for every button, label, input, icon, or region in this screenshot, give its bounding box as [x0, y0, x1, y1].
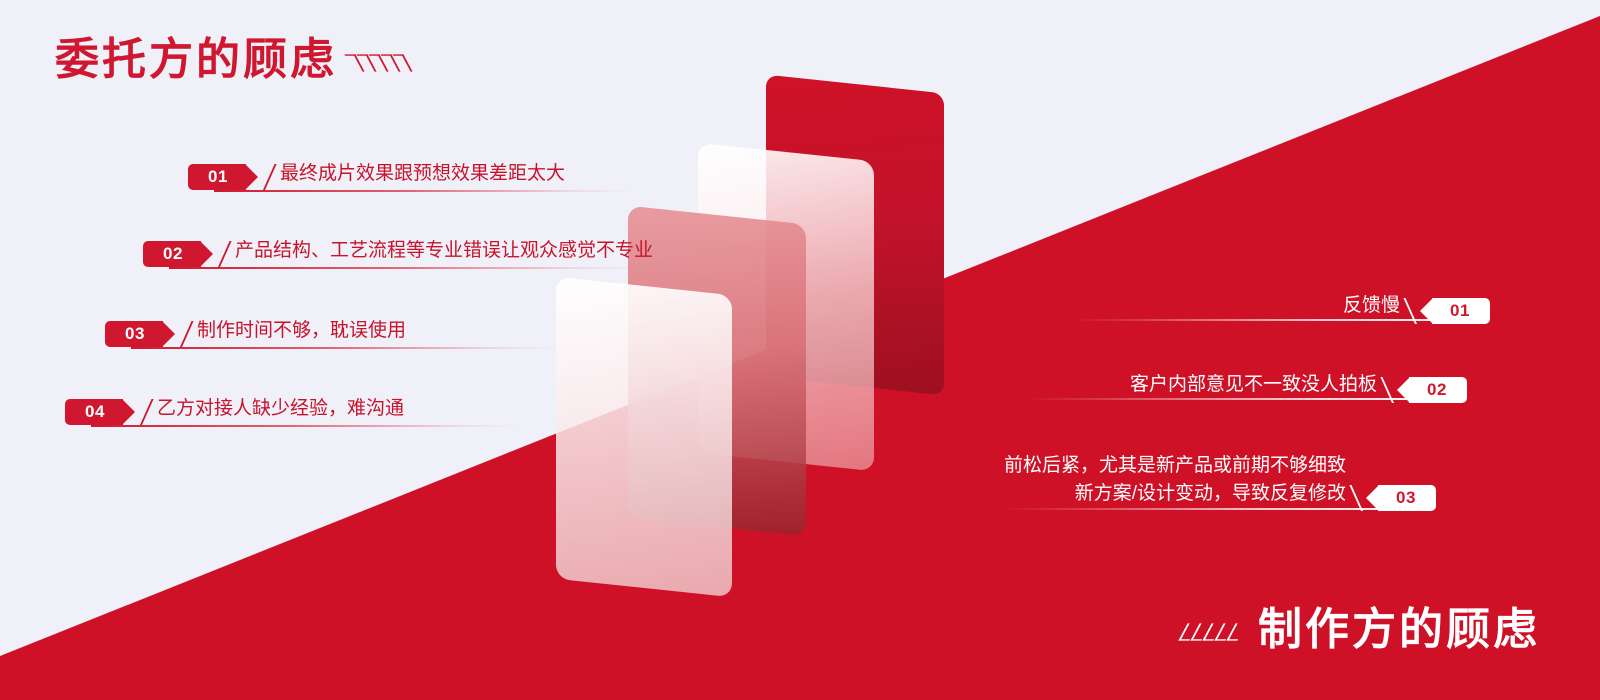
- chevrons-right-icon: [349, 51, 408, 75]
- left-item-04-rule: [91, 425, 519, 427]
- right-item-03-label-line1: 前松后紧，尤其是新产品或前期不够细致: [1004, 452, 1346, 480]
- left-item-01-label: 最终成片效果跟预想效果差距太大: [274, 163, 565, 190]
- slash-icon: [177, 321, 191, 347]
- left-panel-title: 委托方的顾虑: [55, 38, 408, 82]
- right-title-text: 制作方的顾虑: [1258, 608, 1540, 652]
- left-item-04-badge: 04: [65, 399, 123, 425]
- right-panel-title: 制作方的顾虑: [1183, 608, 1540, 652]
- right-item-01-rule: [1068, 319, 1478, 321]
- left-item-03[interactable]: 03 制作时间不够，耽误使用: [105, 320, 406, 347]
- right-item-03-label: 前松后紧，尤其是新产品或前期不够细致 新方案/设计变动，导致反复修改: [1004, 452, 1352, 511]
- left-item-02[interactable]: 02 产品结构、工艺流程等专业错误让观众感觉不专业: [143, 240, 653, 267]
- left-item-04-label: 乙方对接人缺少经验，难沟通: [151, 398, 404, 425]
- left-item-03-label: 制作时间不够，耽误使用: [191, 320, 406, 347]
- left-item-02-label: 产品结构、工艺流程等专业错误让观众感觉不专业: [229, 240, 653, 267]
- slash-icon: [137, 399, 151, 425]
- left-item-02-rule: [169, 267, 647, 269]
- left-item-01-rule: [214, 190, 634, 192]
- slash-icon: [260, 164, 274, 190]
- slide-root: 委托方的顾虑 01 最终成片效果跟预想效果差距太大 02 产品结构、工艺流程等专…: [0, 0, 1600, 700]
- slash-icon: [215, 241, 229, 267]
- right-item-03[interactable]: 前松后紧，尤其是新产品或前期不够细致 新方案/设计变动，导致反复修改 03: [1004, 452, 1436, 511]
- right-item-03-label-line2: 新方案/设计变动，导致反复修改: [1004, 480, 1346, 508]
- left-title-text: 委托方的顾虑: [55, 38, 337, 82]
- right-item-03-rule: [1004, 508, 1424, 510]
- left-item-04[interactable]: 04 乙方对接人缺少经验，难沟通: [65, 398, 404, 425]
- chevrons-left-icon: [1183, 620, 1242, 644]
- left-item-03-rule: [131, 347, 561, 349]
- left-item-03-badge: 03: [105, 321, 163, 347]
- left-item-02-badge: 02: [143, 241, 201, 267]
- right-item-02-rule: [1025, 398, 1455, 400]
- left-item-01[interactable]: 01 最终成片效果跟预想效果差距太大: [188, 163, 565, 190]
- left-item-01-badge: 01: [188, 164, 246, 190]
